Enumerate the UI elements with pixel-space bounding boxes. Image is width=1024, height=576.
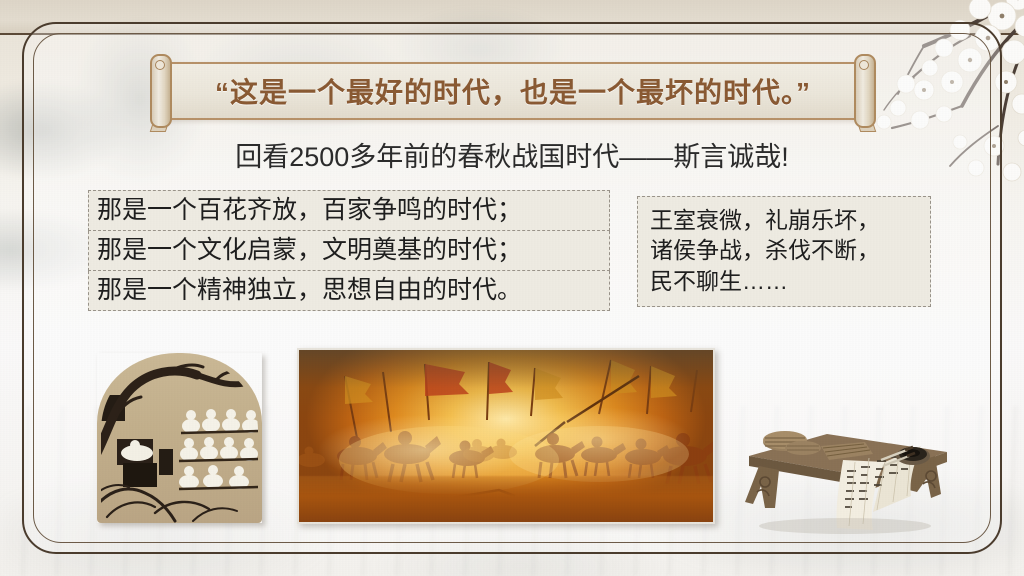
left-text-line: 那是一个文化启蒙，文明奠基的时代； xyxy=(88,231,610,271)
bamboo-slips-desk-photo xyxy=(735,412,950,534)
slide-canvas: “这是一个最好的时代，也是一个最坏的时代。” 回看2500多年前的春秋战国时代—… xyxy=(0,0,1024,576)
title-banner: “这是一个最好的时代，也是一个最坏的时代。” xyxy=(150,62,876,116)
bamboo-desk-art xyxy=(735,412,950,534)
left-text-block: 那是一个百花齐放，百家争鸣的时代； 那是一个文化启蒙，文明奠基的时代； 那是一个… xyxy=(88,190,610,311)
fan-painting-art xyxy=(97,353,262,523)
left-text-line: 那是一个百花齐放，百家争鸣的时代； xyxy=(88,190,610,231)
right-text-block: 王室衰微，礼崩乐坏， 诸侯争战，杀伐不断， 民不聊生…… xyxy=(637,196,931,307)
confucius-teaching-fan-painting xyxy=(97,353,262,523)
banner-body: “这是一个最好的时代，也是一个最坏的时代。” xyxy=(162,62,864,120)
right-text-line: 王室衰微，礼崩乐坏， xyxy=(650,205,920,235)
banner-roll-left xyxy=(150,54,172,128)
banner-roll-right xyxy=(854,54,876,128)
slide-subtitle: 回看2500多年前的春秋战国时代——斯言诚哉! xyxy=(0,135,1024,174)
right-text-line: 民不聊生…… xyxy=(650,266,920,296)
left-text-line: 那是一个精神独立，思想自由的时代。 xyxy=(88,271,610,311)
ancient-cavalry-battle-painting xyxy=(297,348,715,524)
right-text-line: 诸侯争战，杀伐不断， xyxy=(650,235,920,265)
slide-title: “这是一个最好的时代，也是一个最坏的时代。” xyxy=(164,64,862,118)
battle-ground xyxy=(299,476,713,522)
